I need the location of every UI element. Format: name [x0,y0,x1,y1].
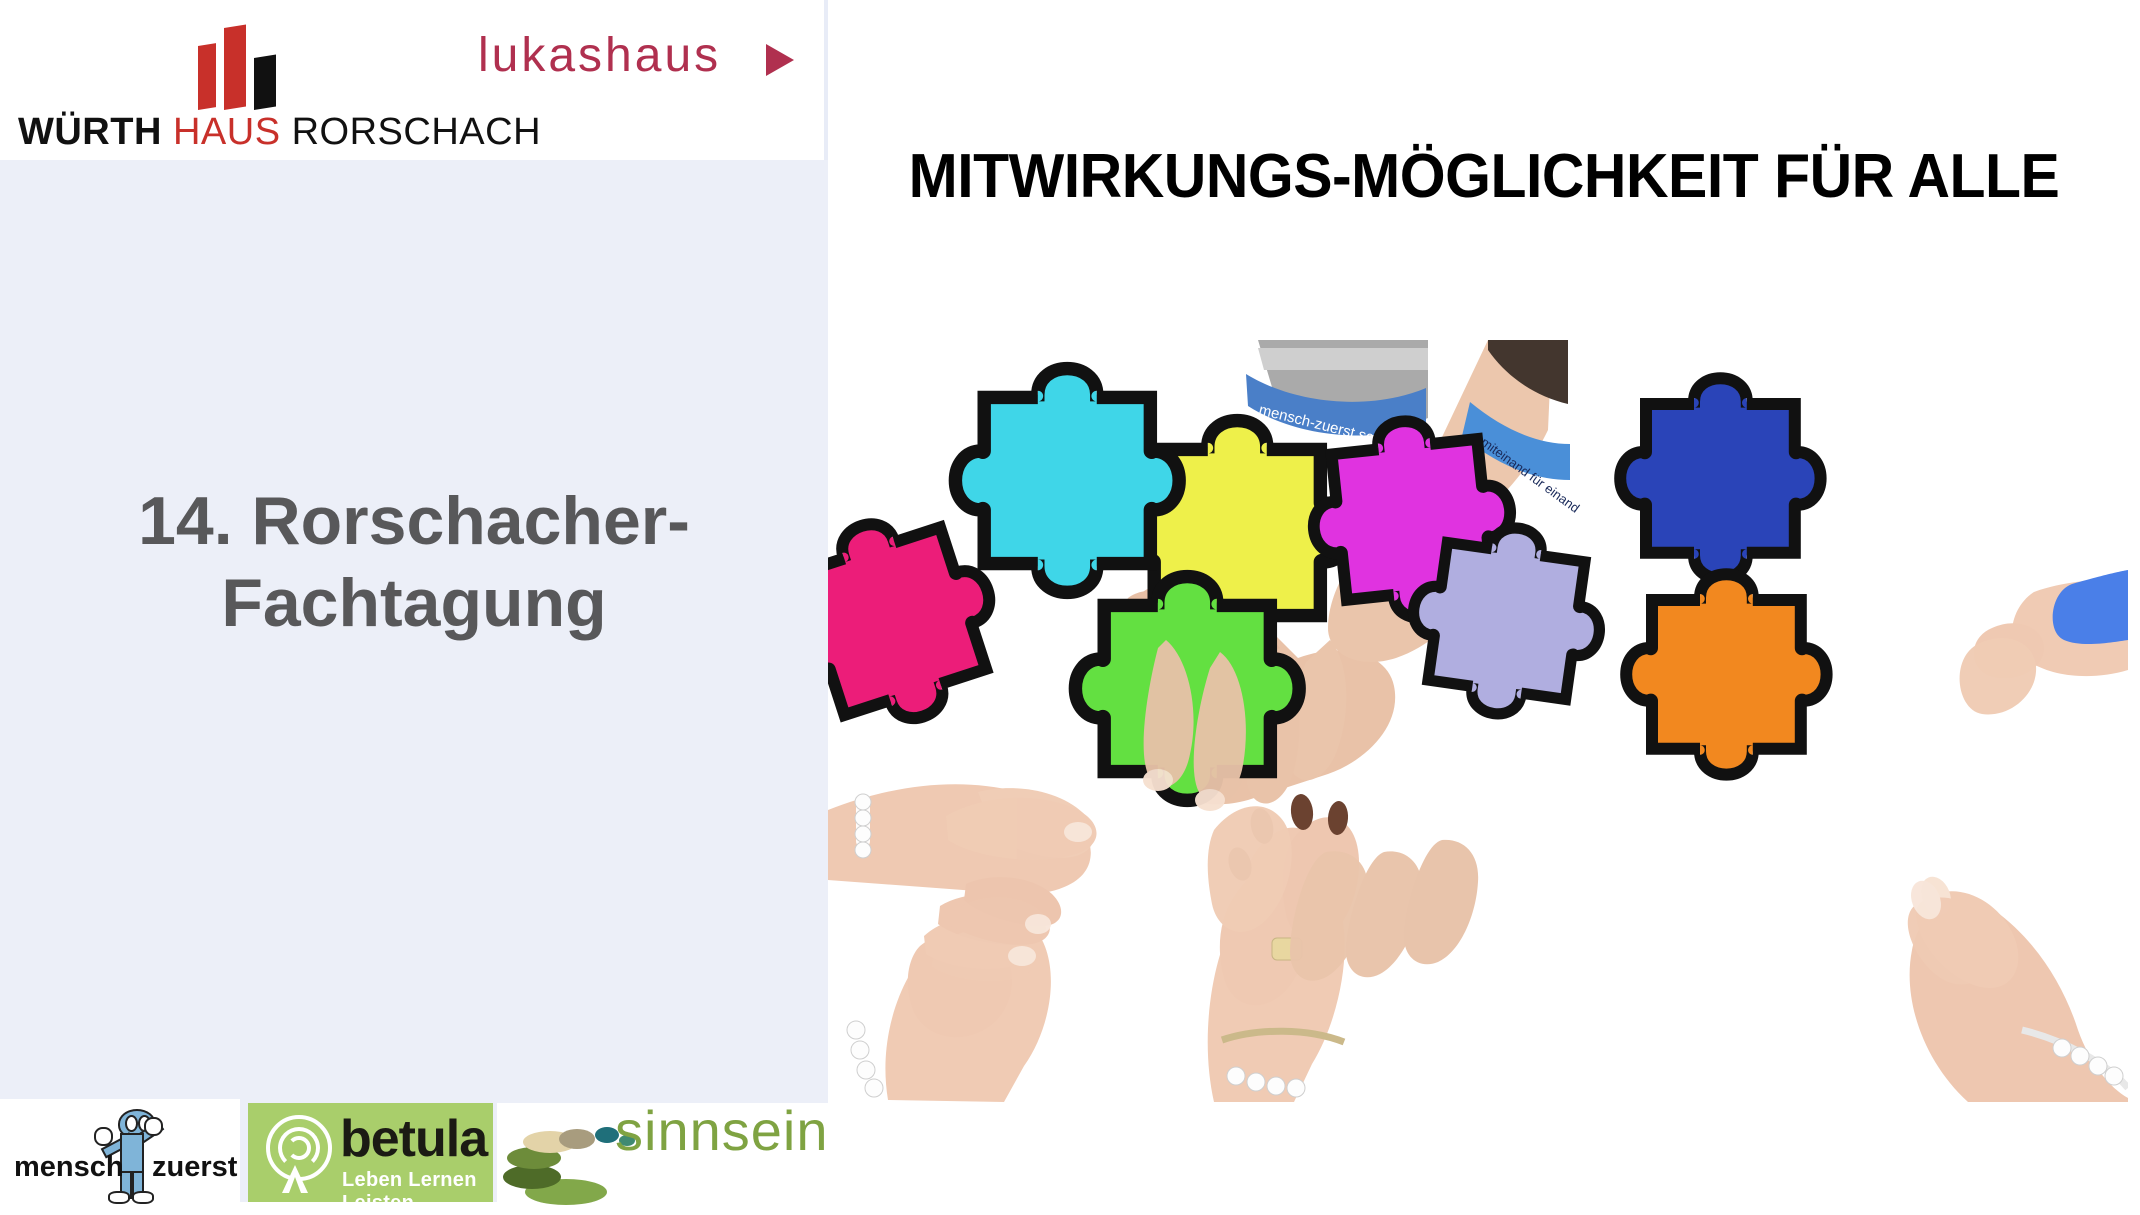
sinnsein-logo: sinnsein [497,1103,828,1202]
sinnsein-wordmark: sinnsein [615,1099,828,1163]
wuerth-building-icon [196,18,286,110]
wuerth-word-wuerth: WÜRTH [18,111,162,153]
bracelet-inklusion [847,1021,883,1097]
lukashaus-logo: lukashaus [478,26,818,96]
spiral-tree-icon [262,1113,334,1193]
betula-tagline: Leben Lernen Leisten [342,1169,493,1215]
left-column: WÜRTH HAUS RORSCHACH lukashaus 14. Rorsc… [0,0,828,1202]
event-title: 14. Rorschacher-Fachtagung [40,480,788,644]
wuerth-haus-rorschach-logo: WÜRTH HAUS RORSCHACH [18,18,488,146]
mensch-zuerst-word-mensch: mensch [14,1151,124,1184]
wristband-blue-right [2053,570,2128,644]
puzzle-illustration: mensch-zuerst schweiz miteinand für eina… [828,340,2128,1102]
finger-over-blue [1960,638,2037,714]
mensch-zuerst-word-zuerst: zuerst [152,1151,237,1184]
betula-logo: betula Leben Lernen Leisten [248,1103,493,1202]
mensch-zuerst-logo: mensch zuerst [0,1099,240,1202]
puzzle-hands-photo: mensch-zuerst schweiz miteinand für eina… [828,340,2128,1102]
right-column: MITWIRKUNGS-MÖGLICHKEIT FÜR ALLE [828,0,2140,1202]
triangle-right-icon [766,44,794,76]
fingers-over-magenta [1290,840,1478,981]
presentation-slide: WÜRTH HAUS RORSCHACH lukashaus 14. Rorsc… [0,0,2140,1202]
partner-logo-strip: mensch zuerst betula Leben Lernen Leiste… [0,1099,828,1202]
puzzle-piece-blue [1620,378,1820,578]
lukashaus-wordmark: lukashaus [478,26,721,86]
wuerth-word-rorschach: RORSCHACH [292,111,541,153]
puzzle-piece-cyan [955,369,1179,593]
wuerth-logo-wordmark: WÜRTH HAUS RORSCHACH [18,110,488,154]
left-body-panel [0,160,828,1202]
puzzle-piece-orange [1626,574,1826,774]
betula-wordmark: betula [340,1111,487,1167]
page-title: MITWIRKUNGS-MÖGLICHKEIT FÜR ALLE [878,140,2090,214]
wuerth-word-haus: HAUS [173,111,281,153]
